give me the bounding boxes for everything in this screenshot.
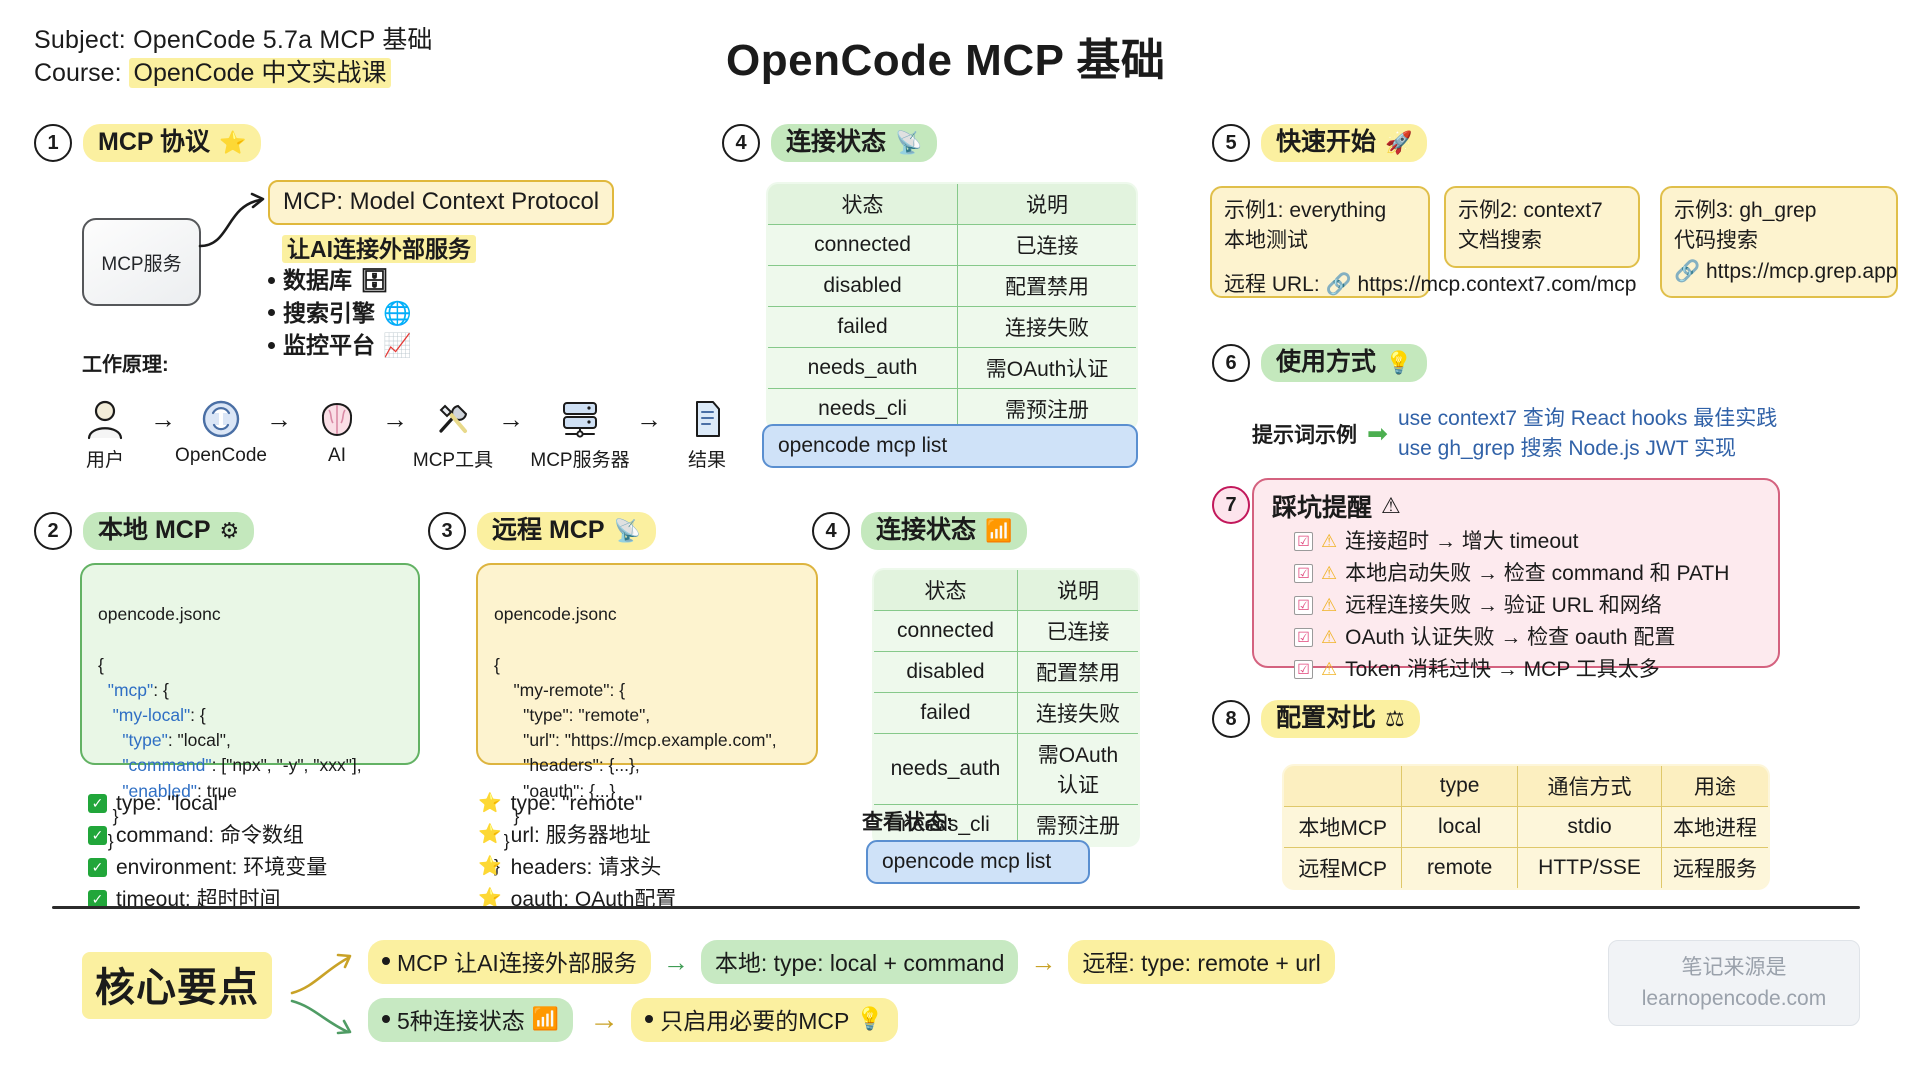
- checkbox-checked-icon: ☑: [1294, 660, 1313, 679]
- star-icon: ⭐: [478, 885, 502, 914]
- example-card-desc: 本地测试: [1224, 226, 1416, 256]
- example-card-desc: 代码搜索: [1674, 226, 1884, 256]
- column-header: 说明: [1017, 569, 1139, 611]
- section-7-title: 踩坑提醒: [1272, 488, 1372, 524]
- cell-status: connected: [767, 225, 958, 266]
- flow-step-label: AI: [328, 445, 346, 467]
- example-card-title: 示例3: gh_grep: [1674, 196, 1884, 226]
- list-item: ✓timeout: 超时时间: [88, 884, 327, 916]
- flow-step-opencode: OpenCode: [178, 396, 264, 467]
- list-item: 数据库 🗄: [268, 264, 412, 297]
- summary-chip-label: MCP 让AI连接外部服务: [397, 944, 637, 978]
- example-card-url[interactable]: https://mcp.grep.app: [1706, 260, 1897, 283]
- mcp-use-list: 数据库 🗄 搜索引擎 🌐 监控平台 📈: [268, 264, 412, 362]
- rocket-icon: 🚀: [1385, 130, 1412, 155]
- cell-desc: 配置禁用: [1017, 652, 1139, 693]
- right-arrow-icon: →: [1030, 947, 1056, 978]
- list-item-label: 本地启动失败 → 检查 command 和 PATH: [1345, 558, 1729, 590]
- person-icon: [84, 396, 126, 442]
- warning-icon: ⚠: [1321, 528, 1337, 555]
- list-item: ✓type: "local": [88, 788, 327, 820]
- list-item-label: 远程连接失败 → 验证 URL 和网络: [1345, 590, 1662, 622]
- cell-transport: stdio: [1517, 807, 1661, 848]
- section-7-header: 踩坑提醒 ⚠: [1272, 488, 1760, 524]
- section-4a-number: 4: [722, 124, 760, 162]
- checkbox-checked-icon: ☑: [1294, 596, 1313, 615]
- flow-step-label: MCP服务器: [530, 445, 629, 472]
- list-item-label: oauth: OAuth配置: [511, 884, 677, 916]
- right-arrow-icon: ➡: [1367, 419, 1388, 449]
- section-1-title-pill: MCP 协议 ⭐: [83, 124, 261, 162]
- section-4b-header: 4 连接状态 📶: [812, 512, 1027, 550]
- section-4b-number: 4: [812, 512, 850, 550]
- cell-row-label: 本地MCP: [1283, 807, 1402, 848]
- cell-status: connected: [873, 611, 1017, 652]
- list-item: ☑⚠远程连接失败 → 验证 URL 和网络: [1294, 590, 1760, 622]
- view-status-label: 查看状态:: [862, 806, 953, 836]
- cell-usage: 远程服务: [1662, 848, 1769, 890]
- flow-step-result: 结果: [664, 396, 750, 472]
- section-8-number: 8: [1212, 700, 1250, 738]
- table-row: disabled配置禁用: [767, 266, 1137, 307]
- section-1-header: 1 MCP 协议 ⭐: [34, 124, 261, 162]
- cell-desc: 已连接: [958, 225, 1137, 266]
- table-row: disabled配置禁用: [873, 652, 1139, 693]
- comparison-table: type 通信方式 用途 本地MCP local stdio 本地进程 远程MC…: [1282, 764, 1770, 890]
- list-item-label: timeout: 超时时间: [116, 884, 281, 916]
- section-4a-title: 连接状态: [786, 128, 886, 157]
- remote-url-row: 远程 URL: 🔗 https://mcp.context7.com/mcp: [1224, 268, 1636, 298]
- globe-icon: 🌐: [383, 297, 412, 330]
- list-item: 监控平台 📈: [268, 329, 412, 362]
- list-item: ⭐oauth: OAuth配置: [478, 884, 676, 916]
- star-icon: ⭐: [478, 821, 502, 850]
- mcp-service-box: MCP服务: [82, 218, 201, 306]
- column-header: 用途: [1662, 765, 1769, 807]
- gear-icon: ⚙: [220, 518, 240, 543]
- table-row: failed连接失败: [767, 307, 1137, 348]
- cell-desc: 需OAuth认证: [958, 348, 1137, 389]
- list-item: ☑⚠本地启动失败 → 检查 command 和 PATH: [1294, 558, 1760, 590]
- list-item-label: url: 服务器地址: [511, 820, 651, 852]
- workflow-diagram: 用户 → OpenCode → AI →: [62, 396, 750, 472]
- brain-icon: [316, 396, 358, 442]
- local-mcp-key-list: ✓type: "local" ✓command: 命令数组 ✓environme…: [88, 788, 327, 916]
- cell-status: disabled: [767, 266, 958, 307]
- protocol-card: MCP: Model Context Protocol: [268, 180, 614, 225]
- remote-mcp-key-list: ⭐type: "remote" ⭐url: 服务器地址 ⭐headers: 请求…: [478, 788, 676, 916]
- tools-icon: [432, 396, 474, 442]
- code-filename: opencode.jsonc: [98, 604, 221, 624]
- warning-icon: ⚠: [1321, 560, 1337, 587]
- section-5-title-pill: 快速开始 🚀: [1261, 124, 1427, 162]
- star-icon: ⭐: [478, 790, 502, 819]
- section-8-title: 配置对比: [1276, 704, 1376, 733]
- signal-icon: 📶: [532, 1006, 559, 1032]
- mcp-list-command-b[interactable]: opencode mcp list: [866, 840, 1090, 884]
- list-item: ✓environment: 环境变量: [88, 852, 327, 884]
- section-3-title: 远程 MCP: [492, 516, 605, 545]
- bullet-dot-icon: [268, 309, 275, 316]
- example-card-url-row: 🔗 https://mcp.grep.app: [1674, 257, 1884, 287]
- list-item-label: Token 消耗过快 → MCP 工具太多: [1345, 654, 1660, 686]
- github-icon: [200, 396, 242, 442]
- summary-chip: MCP 让AI连接外部服务: [368, 940, 651, 984]
- section-4a-title-pill: 连接状态 📡: [771, 124, 937, 162]
- checkbox-checked-icon: ☑: [1294, 564, 1313, 583]
- section-6-title-pill: 使用方式 💡: [1261, 344, 1427, 382]
- column-header: 说明: [958, 183, 1137, 225]
- list-item-label: environment: 环境变量: [116, 852, 327, 884]
- example-card-title: 示例1: everything: [1224, 196, 1416, 226]
- flow-step-label: OpenCode: [175, 445, 267, 467]
- flow-step-mcp-tools: MCP工具: [410, 396, 496, 472]
- list-item-label: type: "local": [116, 788, 225, 820]
- summary-chip: 本地: type: local + command: [701, 940, 1019, 984]
- lightbulb-icon: 💡: [1385, 350, 1412, 375]
- check-icon: ✓: [88, 858, 107, 877]
- summary-row-1: MCP 让AI连接外部服务 → 本地: type: local + comman…: [368, 940, 1335, 984]
- chart-increasing-icon: 📈: [383, 329, 412, 362]
- section-3-title-pill: 远程 MCP 📡: [477, 512, 656, 550]
- list-item: ✓command: 命令数组: [88, 820, 327, 852]
- lightbulb-icon: 💡: [856, 1006, 883, 1032]
- column-header: 状态: [873, 569, 1017, 611]
- database-icon: 🗄: [360, 264, 389, 297]
- list-item: ⭐url: 服务器地址: [478, 820, 676, 852]
- bullet-dot-icon: [268, 277, 275, 284]
- list-item: ⭐headers: 请求头: [478, 852, 676, 884]
- prompt-example-row: 提示词示例 ➡ use context7 查询 React hooks 最佳实践…: [1252, 404, 1777, 464]
- watermark: 笔记来源是 learnopencode.com: [1608, 940, 1860, 1026]
- cell-status: disabled: [873, 652, 1017, 693]
- protocol-subtitle: 让AI连接外部服务: [282, 235, 476, 263]
- list-item-label: headers: 请求头: [511, 852, 662, 884]
- remote-url-value[interactable]: https://mcp.context7.com/mcp: [1358, 273, 1637, 296]
- summary-chip-label: 本地: type: local + command: [715, 944, 1005, 978]
- check-icon: ✓: [88, 794, 107, 813]
- server-icon: [558, 396, 602, 442]
- checkbox-checked-icon: ☑: [1294, 628, 1313, 647]
- section-2-title-pill: 本地 MCP ⚙: [83, 512, 254, 550]
- summary-row-2: 5种连接状态 📶 → 只启用必要的MCP 💡: [368, 998, 898, 1042]
- link-icon: 🔗: [1326, 273, 1352, 296]
- work-principle-label: 工作原理:: [82, 348, 169, 377]
- bullet-dot-icon: [645, 1015, 653, 1023]
- flow-step-user: 用户: [62, 396, 148, 472]
- summary-chip: 只启用必要的MCP 💡: [631, 998, 898, 1042]
- flow-arrow-icon: →: [634, 396, 664, 442]
- list-item: ⭐type: "remote": [478, 788, 676, 820]
- star-icon: ⭐: [219, 130, 246, 155]
- divider: [52, 906, 1860, 909]
- cell-type: remote: [1402, 848, 1518, 890]
- curved-arrow-icon: [196, 190, 276, 260]
- cell-desc: 已连接: [1017, 611, 1139, 652]
- table-row: connected已连接: [873, 611, 1139, 652]
- summary-chip-label: 只启用必要的MCP: [660, 1002, 849, 1036]
- table-header-row: 状态 说明: [873, 569, 1139, 611]
- pitfalls-list: ☑⚠连接超时 → 增大 timeout ☑⚠本地启动失败 → 检查 comman…: [1272, 526, 1760, 686]
- section-8-header: 8 配置对比 ⚖: [1212, 700, 1420, 738]
- watermark-line-1: 笔记来源是: [1682, 952, 1787, 984]
- bullet-dot-icon: [382, 1015, 390, 1023]
- section-7-number: 7: [1212, 486, 1250, 524]
- section-1-number: 1: [34, 124, 72, 162]
- cell-row-label: 远程MCP: [1283, 848, 1402, 890]
- section-5-header: 5 快速开始 🚀: [1212, 124, 1427, 162]
- section-6-title: 使用方式: [1276, 348, 1376, 377]
- link-icon: 🔗: [1674, 260, 1700, 283]
- table-row: failed连接失败: [873, 693, 1139, 734]
- course-value: OpenCode 中文实战课: [129, 58, 392, 88]
- list-item-label: command: 命令数组: [116, 820, 304, 852]
- flow-arrow-icon: →: [264, 396, 294, 442]
- cell-desc: 连接失败: [1017, 693, 1139, 734]
- bullet-dot-icon: [382, 957, 390, 965]
- antenna-bars-icon: 📡: [895, 130, 922, 155]
- table-header-row: 状态 说明: [767, 183, 1137, 225]
- table-row: needs_auth需OAuth认证: [873, 734, 1139, 805]
- balance-scale-icon: ⚖: [1385, 706, 1405, 731]
- code-filename: opencode.jsonc: [494, 604, 617, 624]
- table-row: 本地MCP local stdio 本地进程: [1283, 807, 1769, 848]
- summary-chip-label: 5种连接状态: [397, 1002, 525, 1036]
- section-2-header: 2 本地 MCP ⚙: [34, 512, 254, 550]
- document-icon: [686, 396, 728, 442]
- section-8-title-pill: 配置对比 ⚖: [1261, 700, 1420, 738]
- warning-icon: ⚠: [1381, 493, 1401, 519]
- summary-chip: 远程: type: remote + url: [1068, 940, 1334, 984]
- list-item: ☑⚠Token 消耗过快 → MCP 工具太多: [1294, 654, 1760, 686]
- course-label: Course:: [34, 59, 122, 87]
- warning-icon: ⚠: [1321, 592, 1337, 619]
- flow-step-label: 结果: [688, 445, 726, 472]
- subject-line: Subject: OpenCode 5.7a MCP 基础: [34, 20, 433, 56]
- summary-chip-label: 远程: type: remote + url: [1082, 944, 1320, 978]
- section-3-header: 3 远程 MCP 📡: [428, 512, 656, 550]
- section-4b-title-pill: 连接状态 📶: [861, 512, 1027, 550]
- list-item-label: 连接超时 → 增大 timeout: [1345, 526, 1578, 558]
- section-1-title: MCP 协议: [98, 128, 210, 157]
- example-card-desc: 文档搜索: [1458, 226, 1626, 256]
- list-item-label: 数据库: [283, 264, 352, 297]
- cell-status: failed: [767, 307, 958, 348]
- list-item: 搜索引擎 🌐: [268, 297, 412, 330]
- prompt-line: use context7 查询 React hooks 最佳实践: [1398, 404, 1777, 434]
- right-arrow-icon: →: [663, 947, 689, 978]
- star-icon: ⭐: [478, 853, 502, 882]
- course-line: Course: OpenCode 中文实战课: [34, 53, 391, 89]
- cell-desc: 连接失败: [958, 307, 1137, 348]
- example-card-title: 示例2: context7: [1458, 196, 1626, 226]
- mcp-list-command-a[interactable]: opencode mcp list: [762, 424, 1138, 468]
- table-header-row: type 通信方式 用途: [1283, 765, 1769, 807]
- cell-status: needs_auth: [767, 348, 958, 389]
- section-6-number: 6: [1212, 344, 1250, 382]
- bullet-dot-icon: [268, 342, 275, 349]
- summary-title: 核心要点: [82, 952, 272, 1019]
- cell-status: failed: [873, 693, 1017, 734]
- flow-arrow-icon: →: [148, 396, 178, 442]
- prompt-line: use gh_grep 搜索 Node.js JWT 实现: [1398, 434, 1777, 464]
- cell-type: local: [1402, 807, 1518, 848]
- list-item-label: type: "remote": [511, 788, 643, 820]
- table-row: 远程MCP remote HTTP/SSE 远程服务: [1283, 848, 1769, 890]
- warning-icon: ⚠: [1321, 624, 1337, 651]
- section-4b-title: 连接状态: [876, 516, 976, 545]
- column-header: 通信方式: [1517, 765, 1661, 807]
- section-2-number: 2: [34, 512, 72, 550]
- section-6-header: 6 使用方式 💡: [1212, 344, 1427, 382]
- prompt-example-label: 提示词示例: [1252, 419, 1357, 449]
- flow-step-mcp-server: MCP服务器: [526, 396, 634, 472]
- section-2-title: 本地 MCP: [98, 516, 211, 545]
- local-mcp-code-block: opencode.jsonc { "mcp": { "my-local": { …: [80, 563, 420, 765]
- remote-mcp-code-block: opencode.jsonc { "my-remote": { "type": …: [476, 563, 818, 765]
- section-5-title: 快速开始: [1276, 128, 1376, 157]
- section-5-number: 5: [1212, 124, 1250, 162]
- status-table-a: 状态 说明 connected已连接 disabled配置禁用 failed连接…: [766, 182, 1138, 431]
- list-item: ☑⚠连接超时 → 增大 timeout: [1294, 526, 1760, 558]
- table-row: needs_auth需OAuth认证: [767, 348, 1137, 389]
- list-item-label: OAuth 认证失败 → 检查 oauth 配置: [1345, 622, 1675, 654]
- cell-transport: HTTP/SSE: [1517, 848, 1661, 890]
- checkbox-checked-icon: ☑: [1294, 532, 1313, 551]
- satellite-antenna-icon: 📡: [614, 518, 641, 543]
- table-row: connected已连接: [767, 225, 1137, 266]
- column-header: type: [1402, 765, 1518, 807]
- prompt-lines: use context7 查询 React hooks 最佳实践 use gh_…: [1398, 404, 1777, 464]
- list-item-label: 监控平台: [283, 329, 375, 362]
- watermark-line-2: learnopencode.com: [1642, 983, 1826, 1015]
- check-icon: ✓: [88, 826, 107, 845]
- summary-branch-arrows-icon: [286, 935, 362, 1055]
- cell-desc: 配置禁用: [958, 266, 1137, 307]
- list-item-label: 搜索引擎: [283, 297, 375, 330]
- column-header: [1283, 765, 1402, 807]
- cell-desc: 需OAuth认证: [1017, 734, 1139, 805]
- infographic-page: Subject: OpenCode 5.7a MCP 基础 Course: Op…: [0, 0, 1920, 1071]
- cell-usage: 本地进程: [1662, 807, 1769, 848]
- list-item: ☑⚠OAuth 认证失败 → 检查 oauth 配置: [1294, 622, 1760, 654]
- example-card-2: 示例2: context7 文档搜索: [1444, 186, 1640, 268]
- column-header: 状态: [767, 183, 958, 225]
- flow-arrow-icon: →: [496, 396, 526, 442]
- remote-url-label: 远程 URL:: [1224, 273, 1320, 296]
- signal-icon: 📶: [985, 518, 1012, 543]
- example-card-3: 示例3: gh_grep 代码搜索 🔗 https://mcp.grep.app: [1660, 186, 1898, 298]
- flow-step-ai: AI: [294, 396, 380, 467]
- flow-step-label: MCP工具: [413, 445, 493, 472]
- page-title: OpenCode MCP 基础: [726, 24, 1165, 88]
- summary-chip: 5种连接状态 📶: [368, 998, 573, 1042]
- cell-status: needs_auth: [873, 734, 1017, 805]
- flow-step-label: 用户: [86, 445, 124, 472]
- flow-arrow-icon: →: [380, 396, 410, 442]
- protocol-subtitle-wrap: 让AI连接外部服务: [282, 230, 476, 264]
- section-4a-header: 4 连接状态 📡: [722, 124, 937, 162]
- pitfalls-box: 踩坑提醒 ⚠ ☑⚠连接超时 → 增大 timeout ☑⚠本地启动失败 → 检查…: [1252, 478, 1780, 668]
- warning-icon: ⚠: [1321, 656, 1337, 683]
- section-3-number: 3: [428, 512, 466, 550]
- long-right-arrow-icon: →: [589, 1003, 615, 1037]
